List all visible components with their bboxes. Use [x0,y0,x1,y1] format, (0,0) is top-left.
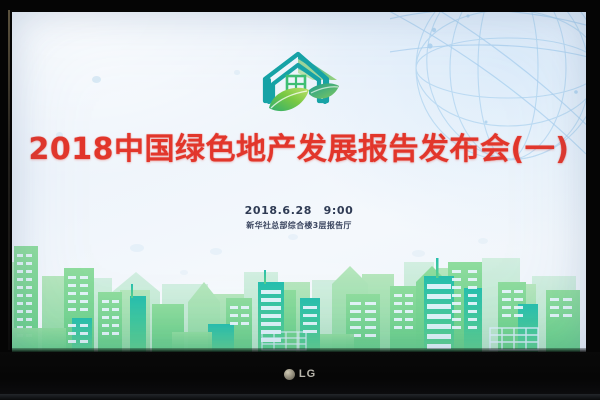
page-title: 2018中国绿色地产发展报告发布会(一) [12,124,586,168]
decorative-bubble [234,70,240,75]
presentation-slide: 2018中国绿色地产发展报告发布会(一) 2018.6.28 9:00 新华社总… [12,12,586,352]
lg-brand-label: LG [299,368,316,380]
tv-screen: 2018中国绿色地产发展报告发布会(一) 2018.6.28 9:00 新华社总… [12,12,586,352]
green-house-leaf-logo-icon [251,46,347,118]
event-venue: 新华社总部综合楼3层报告厅 [12,220,586,231]
cabinet-left-edge [8,10,10,350]
lg-logo-icon [284,369,295,380]
tv-stand-base [0,394,600,400]
green-city-skyline-icon [12,232,586,352]
decorative-bubble [92,76,101,83]
lg-brand-area: LG [0,368,600,380]
event-datetime: 2018.6.28 9:00 [12,202,586,218]
television-set: 2018中国绿色地产发展报告发布会(一) 2018.6.28 9:00 新华社总… [0,0,600,400]
